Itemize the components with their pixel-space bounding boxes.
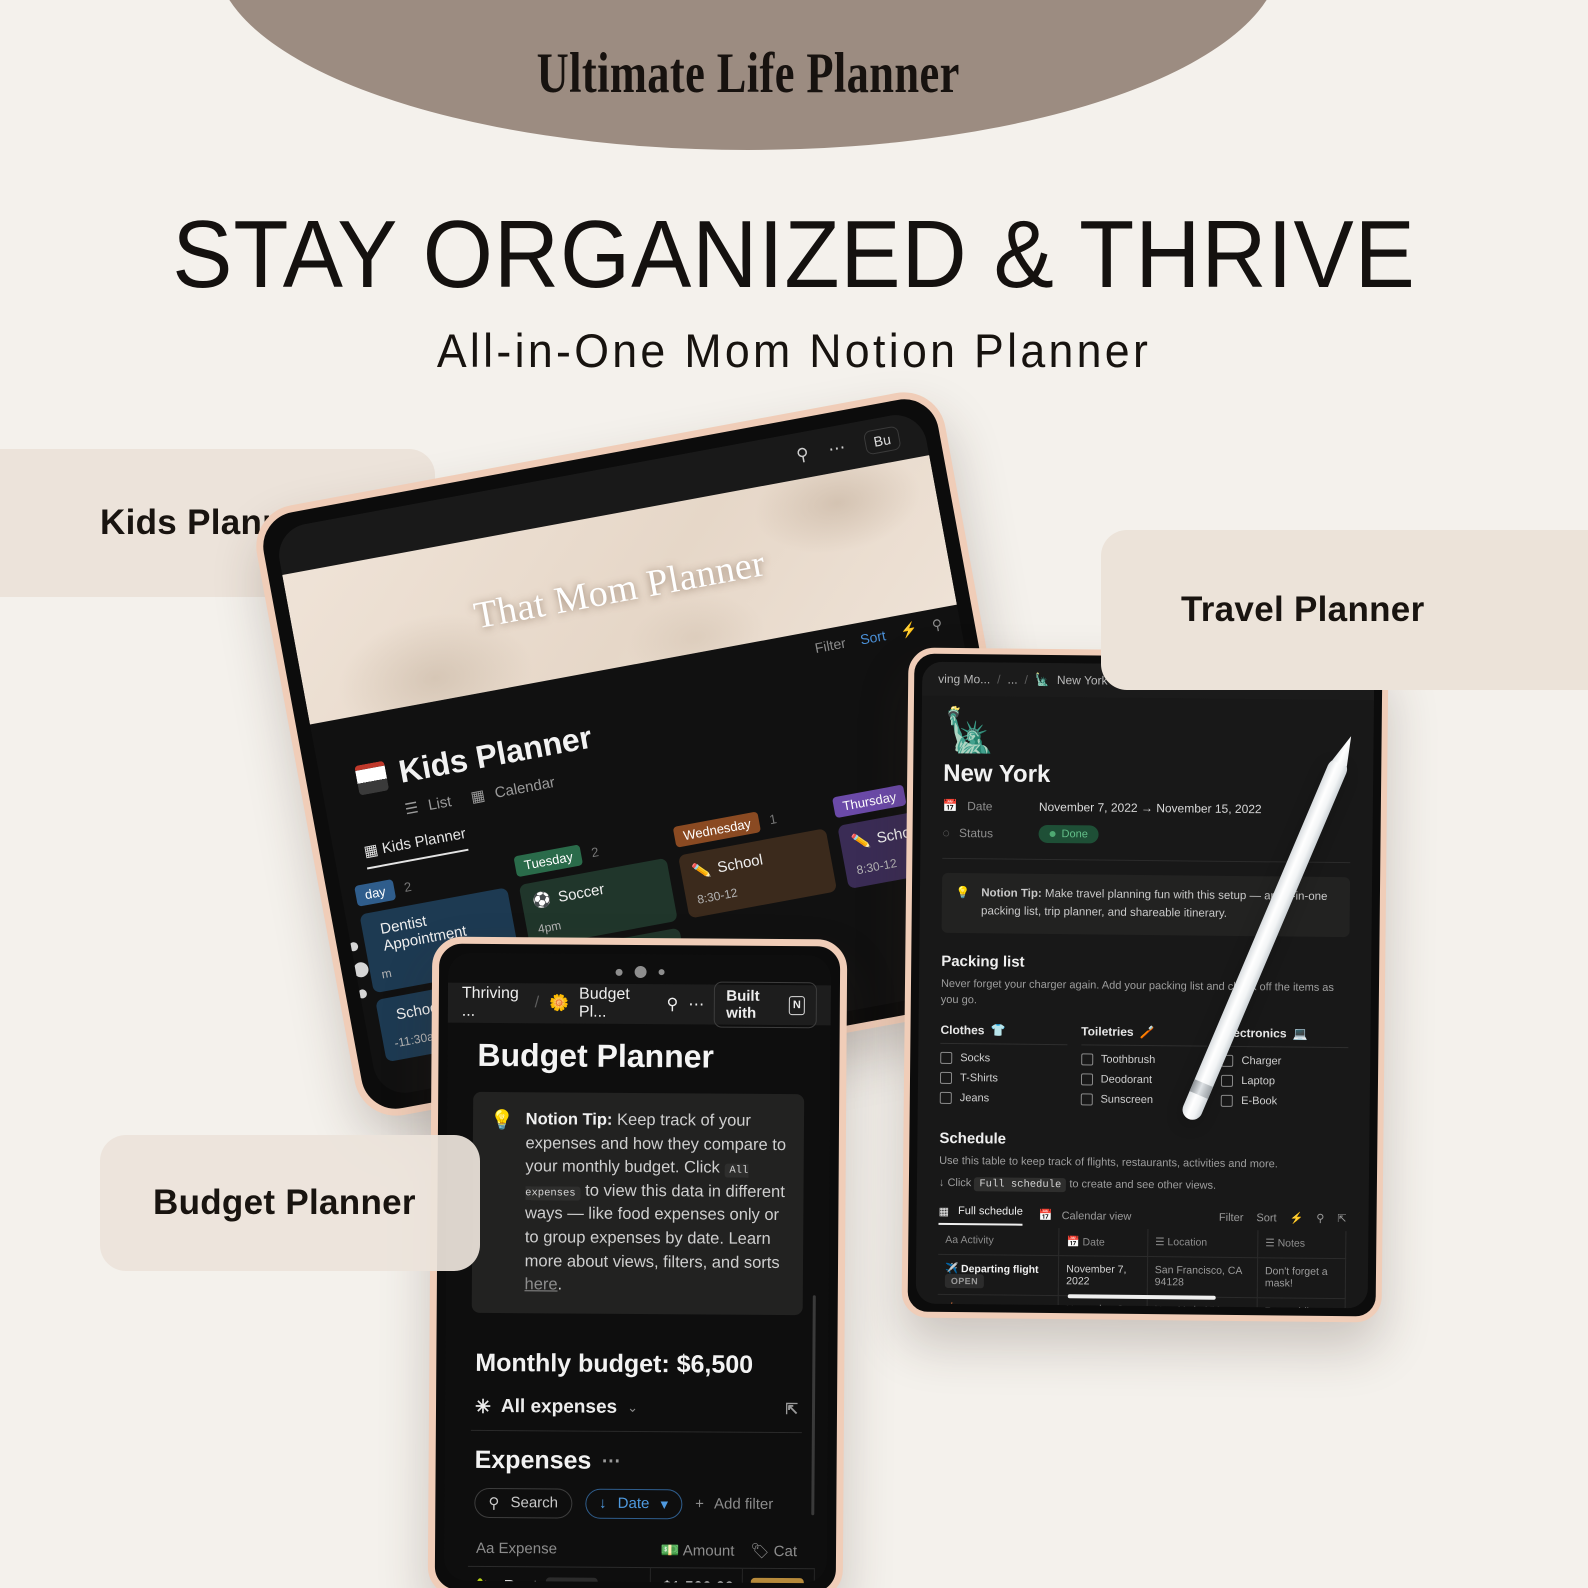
kids-cover-title: That Mom Planner	[470, 541, 768, 638]
cell-category[interactable]: Home	[742, 1568, 814, 1583]
view-selector-label: All expenses	[501, 1396, 617, 1419]
lightning-icon[interactable]: ⚡	[899, 620, 919, 640]
lightning-icon[interactable]: ⚡	[1290, 1212, 1304, 1225]
schedule-table-body: ✈️ Departing flight OPENNovember 7, 2022…	[937, 1254, 1346, 1308]
category-tag: Home	[751, 1578, 805, 1584]
column-type-icon: ☰	[1265, 1238, 1275, 1250]
statue-of-liberty-icon: 🗽	[1035, 673, 1050, 687]
expand-icon[interactable]: ⇱	[1337, 1212, 1346, 1225]
more-icon[interactable]: ⋯	[601, 1450, 620, 1473]
packing-item-label: E-Book	[1241, 1095, 1277, 1107]
cell-expense[interactable]: 🏡RentOPEN	[468, 1566, 651, 1583]
kids-sort-button[interactable]: Sort	[859, 627, 887, 647]
divider	[471, 1430, 802, 1433]
packing-column-heading: Electronics💻	[1222, 1025, 1349, 1047]
calendar-page-icon	[354, 760, 389, 795]
search-icon[interactable]: ⚲	[1316, 1212, 1324, 1225]
cell-notes[interactable]: Don't forget a mask!	[1257, 1258, 1345, 1299]
schedule-hint-code: Full schedule	[974, 1177, 1066, 1192]
packing-item-label: Charger	[1241, 1055, 1281, 1067]
lightbulb-icon: 💡	[956, 885, 971, 921]
packing-column-title: Toiletries	[1081, 1024, 1134, 1039]
cell-activity[interactable]: ✈️ Departing flight OPEN	[938, 1254, 1059, 1295]
packing-checkbox-item[interactable]: T-Shirts	[940, 1071, 1067, 1084]
travel-page-body: 🗽 New York 📅 Date November 7, 2022 → Nov…	[916, 696, 1374, 1309]
travel-page-title: New York	[943, 760, 1351, 792]
packing-columns: Clothes👕SocksT-ShirtsJeansToiletries🪥Too…	[940, 1022, 1349, 1107]
poster-canvas: Ultimate Life Planner STAY ORGANIZED & T…	[0, 0, 1588, 1588]
expenses-filter-bar: ⚲ Search ↓ Date ▾ + Add filter	[474, 1488, 815, 1520]
callout-part-3: .	[558, 1276, 563, 1294]
kids-day-count: 1	[768, 811, 778, 827]
cell-activity[interactable]: 🍂 Central park OPEN	[937, 1294, 1058, 1308]
expenses-title-text: Expenses	[475, 1446, 592, 1476]
budget-notion-tip-callout: 💡 Notion Tip: Keep track of your expense…	[472, 1092, 805, 1315]
built-with-label: Built with	[726, 988, 782, 1022]
packing-column-heading: Clothes👕	[940, 1022, 1067, 1044]
travel-tablet-screen: ving Mo... / ... / 🗽 New York 🗽 New York…	[916, 662, 1375, 1309]
label-travel-planner: Travel Planner	[1101, 530, 1588, 690]
budget-callout-text: Notion Tip: Keep track of your expenses …	[524, 1108, 787, 1299]
badge-title: Ultimate Life Planner	[536, 41, 959, 106]
kids-tab-bar: ▦ Kids Planner	[362, 824, 469, 869]
asterisk-icon: ✳	[475, 1396, 491, 1419]
column-header-label: Location	[1167, 1237, 1207, 1249]
expenses-database-title: Expenses ⋯	[475, 1446, 816, 1477]
label-budget-planner: Budget Planner	[100, 1135, 480, 1271]
packing-list-description: Never forget your charger again. Add you…	[941, 975, 1349, 1012]
activity-emoji-icon: 🍂	[945, 1303, 958, 1309]
chevron-down-icon[interactable]: ⌄	[627, 1400, 638, 1416]
add-filter-button[interactable]: + Add filter	[695, 1496, 773, 1514]
schedule-filter-button[interactable]: Filter	[1219, 1212, 1244, 1224]
dot-small	[615, 968, 622, 975]
kids-view-calendar-label: Calendar	[493, 773, 556, 801]
breadcrumb-workspace[interactable]: ving Mo...	[938, 672, 990, 687]
callout-link[interactable]: here	[524, 1275, 557, 1293]
packing-item-label: Sunscreen	[1100, 1093, 1153, 1106]
event-emoji-icon: ✏️	[691, 860, 713, 881]
kids-page-title-text: Kids Planner	[396, 719, 595, 791]
checkbox-icon[interactable]	[1081, 1053, 1093, 1065]
tab-kids-planner[interactable]: ▦ Kids Planner	[362, 824, 469, 869]
kids-day-chip[interactable]: day	[354, 879, 396, 907]
more-icon[interactable]: ⋯	[688, 994, 704, 1014]
property-date: 📅 Date November 7, 2022 → November 15, 2…	[943, 799, 1351, 817]
packing-item-label: Jeans	[960, 1092, 989, 1104]
checkbox-icon[interactable]	[1080, 1093, 1092, 1105]
status-badge[interactable]: Done	[1038, 825, 1098, 844]
packing-column-heading: Toiletries🪥	[1081, 1024, 1208, 1046]
search-icon[interactable]: ⚲	[931, 616, 944, 635]
vertical-scrollbar[interactable]	[811, 1295, 816, 1515]
packing-item-label: T-Shirts	[960, 1072, 998, 1084]
schedule-col-header[interactable]: ☰ Notes	[1258, 1230, 1346, 1258]
packing-category-icon: 🪥	[1140, 1025, 1155, 1039]
notion-icon: N	[789, 996, 805, 1015]
breadcrumb-ellipsis[interactable]: ...	[1007, 673, 1017, 687]
breadcrumb-workspace[interactable]: Thriving ...	[462, 985, 525, 1021]
checkbox-icon[interactable]	[940, 1071, 952, 1083]
cell-location[interactable]: San Francisco, CA 94128	[1147, 1256, 1258, 1297]
cell-date[interactable]: November 7, 2022	[1059, 1255, 1148, 1296]
view-calendar[interactable]: 📅 Calendar view	[1039, 1209, 1132, 1223]
label-travel-planner-text: Travel Planner	[1181, 590, 1425, 630]
schedule-view-bar: ▦ Full schedule 📅 Calendar view Filter S…	[938, 1205, 1346, 1229]
packing-checkbox-item[interactable]: E-Book	[1221, 1094, 1348, 1107]
travel-planner-tablet: ving Mo... / ... / 🗽 New York 🗽 New York…	[902, 648, 1389, 1323]
packing-checkbox-item[interactable]: Deodorant	[1081, 1073, 1208, 1086]
budget-tablet-screen: Thriving ... / 🌼 Budget Pl... ⚲ ⋯ Built …	[444, 953, 831, 1584]
more-icon[interactable]: ⋯	[827, 437, 847, 460]
dot-small	[357, 989, 367, 999]
packing-list-heading: Packing list	[941, 952, 1349, 973]
flower-icon: 🌼	[549, 993, 569, 1013]
packing-column: Clothes👕SocksT-ShirtsJeans	[940, 1022, 1068, 1104]
packing-item-label: Deodorant	[1101, 1073, 1152, 1086]
kids-view-list-item[interactable]: ☰ List	[403, 792, 452, 818]
expense-cell-inner: 🏡RentOPEN	[476, 1577, 642, 1584]
view-full-schedule[interactable]: ▦ Full schedule	[938, 1205, 1022, 1226]
checkbox-icon[interactable]	[940, 1091, 952, 1103]
property-status-value[interactable]: Done	[1038, 825, 1098, 844]
breadcrumb-page[interactable]: Budget Pl...	[579, 986, 649, 1022]
column-type-icon: 📅	[1067, 1236, 1080, 1248]
checkbox-icon[interactable]	[1221, 1074, 1233, 1086]
sort-date-button[interactable]: ↓ Date ▾	[585, 1488, 682, 1519]
badge-ellipse: Ultimate Life Planner	[215, 0, 1281, 150]
schedule-toolbar: Filter Sort ⚡ ⚲ ⇱	[1219, 1211, 1347, 1225]
packing-item-label: Toothbrush	[1101, 1053, 1156, 1066]
kids-day-chip[interactable]: Tuesday	[513, 844, 583, 877]
view-selector-all-expenses[interactable]: ✳ All expenses ⌄ ⇱	[475, 1396, 798, 1421]
packing-checkbox-item[interactable]: Socks	[940, 1051, 1067, 1064]
open-row-button[interactable]: OPEN	[545, 1577, 597, 1583]
page-headline: STAY ORGANIZED & THRIVE	[48, 200, 1541, 310]
kids-filter-button[interactable]: Filter	[813, 634, 847, 655]
budget-tablet-bezel: Thriving ... / 🌼 Budget Pl... ⚲ ⋯ Built …	[428, 937, 848, 1588]
column-type-icon: ☰	[1155, 1236, 1165, 1248]
checkbox-icon[interactable]	[940, 1051, 952, 1063]
packing-item-label: Socks	[960, 1052, 990, 1064]
schedule-sort-button[interactable]: Sort	[1256, 1212, 1276, 1224]
column-type-icon: Aa	[945, 1234, 958, 1246]
property-date-value[interactable]: November 7, 2022 → November 15, 2022	[1039, 800, 1262, 816]
schedule-col-header[interactable]: Aa Activity	[938, 1227, 1059, 1256]
expenses-col-header[interactable]: 🏷 Cat	[742, 1533, 814, 1568]
table-row[interactable]: 🏡RentOPEN$1,500.00Home	[468, 1566, 815, 1583]
budget-breadcrumb-bar: Thriving ... / 🌼 Budget Pl... ⚲ ⋯ Built …	[448, 983, 831, 1026]
event-name: Soccer	[557, 880, 606, 905]
schedule-description: Use this table to keep track of flights,…	[939, 1152, 1347, 1173]
column-type-icon: Aa	[476, 1540, 494, 1557]
search-icon[interactable]: ⚲	[666, 994, 678, 1014]
packing-item-label: Laptop	[1241, 1075, 1275, 1087]
event-emoji-icon: ✏️	[850, 831, 872, 852]
event-emoji-icon: ⚽	[531, 890, 553, 911]
breadcrumb-separator: /	[535, 994, 540, 1012]
lightbulb-icon: 💡	[489, 1108, 514, 1297]
expense-name: Rent	[504, 1578, 538, 1584]
dot-small	[658, 969, 664, 975]
column-header-label: Date	[1083, 1236, 1105, 1248]
activity-name: Central park	[961, 1303, 1022, 1308]
property-status: ◌ Status Done	[942, 824, 1350, 846]
checkbox-icon[interactable]	[1221, 1094, 1233, 1106]
packing-column: Electronics💻ChargerLaptopE-Book	[1221, 1025, 1349, 1107]
dot-small	[348, 941, 358, 951]
cell-amount[interactable]: $1,500.00	[650, 1567, 742, 1583]
label-budget-planner-text: Budget Planner	[153, 1183, 416, 1223]
packing-checkbox-item[interactable]: Toothbrush	[1081, 1053, 1208, 1066]
page-subheadline: All-in-One Mom Notion Planner	[40, 323, 1549, 378]
page-emoji-icon: 🗽	[943, 710, 1351, 756]
packing-category-icon: 👕	[990, 1023, 1005, 1037]
search-icon[interactable]: ⚲	[795, 444, 811, 466]
expenses-table-body: 🏡RentOPEN$1,500.00Home🚗Car LeaseOPEN$702…	[467, 1566, 815, 1583]
expenses-col-header[interactable]: 💵 Amount	[650, 1533, 742, 1568]
column-header-label: Activity	[960, 1234, 993, 1246]
status-dot	[1050, 831, 1056, 837]
budget-page-title: Budget Planner	[477, 1037, 818, 1076]
breadcrumb-page[interactable]: New York	[1057, 673, 1108, 688]
property-status-label: ◌ Status	[943, 826, 1039, 841]
expand-icon[interactable]: ⇱	[785, 1400, 798, 1418]
property-date-label: 📅 Date	[943, 799, 1039, 814]
schedule-heading: Schedule	[939, 1129, 1347, 1150]
dot-large	[634, 966, 646, 978]
event-name: School	[716, 851, 764, 876]
tab-kids-planner-label: Kids Planner	[381, 825, 468, 857]
built-with-badge[interactable]: Bu	[863, 425, 902, 455]
expense-emoji-icon: 🏡	[476, 1577, 496, 1584]
dot-large	[352, 961, 369, 978]
budget-page-body: Budget Planner 💡 Notion Tip: Keep track …	[444, 1023, 831, 1584]
packing-checkbox-item[interactable]: Jeans	[940, 1091, 1067, 1104]
kids-day-count: 2	[590, 844, 600, 860]
column-type-icon: 🏷	[750, 1543, 769, 1560]
breadcrumb-separator: /	[997, 672, 1000, 686]
schedule-table-header-row: Aa Activity📅 Date☰ Location☰ Notes	[938, 1227, 1346, 1259]
budget-planner-tablet: Thriving ... / 🌼 Budget Pl... ⚲ ⋯ Built …	[428, 937, 848, 1588]
expenses-table: Aa Expense💵 Amount🏷 Cat 🏡RentOPEN$1,500.…	[467, 1532, 815, 1584]
expenses-col-header[interactable]: Aa Expense	[468, 1532, 651, 1568]
packing-checkbox-item[interactable]: Charger	[1221, 1054, 1348, 1067]
schedule-hint: ↓ Click Full schedule to create and see …	[939, 1175, 1347, 1197]
built-with-notion-button[interactable]: Built with N	[714, 982, 817, 1029]
kids-view-list-label: List	[427, 793, 453, 814]
breadcrumb-separator: /	[1025, 673, 1028, 687]
schedule-col-header[interactable]: ☰ Location	[1147, 1229, 1257, 1258]
column-header-label: Amount	[683, 1542, 735, 1559]
column-header-label: Notes	[1278, 1238, 1306, 1250]
packing-checkbox-item[interactable]: Laptop	[1221, 1074, 1348, 1087]
search-button[interactable]: ⚲ Search	[474, 1488, 572, 1519]
callout-bold: Notion Tip:	[981, 887, 1042, 900]
packing-category-icon: 💻	[1292, 1026, 1307, 1040]
open-row-button[interactable]: OPEN	[945, 1274, 984, 1288]
schedule-col-header[interactable]: 📅 Date	[1059, 1228, 1148, 1256]
cell-notes[interactable]: Rent a bike.	[1257, 1298, 1345, 1309]
expenses-table-header-row: Aa Expense💵 Amount🏷 Cat	[468, 1532, 815, 1569]
kids-view-calendar-item[interactable]: ▦ Calendar	[469, 773, 556, 806]
kids-day-chip[interactable]: Thursday	[832, 784, 907, 818]
travel-tablet-bezel: ving Mo... / ... / 🗽 New York 🗽 New York…	[902, 648, 1389, 1323]
column-header-label: Expense	[499, 1540, 557, 1557]
packing-column-title: Clothes	[940, 1022, 984, 1036]
schedule-hint-suffix: to create and see other views.	[1069, 1178, 1216, 1192]
column-header-label: Cat	[774, 1543, 797, 1560]
checkbox-icon[interactable]	[1081, 1073, 1093, 1085]
budget-window-dots	[615, 966, 664, 978]
callout-bold: Notion Tip:	[526, 1110, 613, 1129]
schedule-hint-prefix: ↓ Click	[939, 1177, 972, 1189]
monthly-budget-text: Monthly budget: $6,500	[475, 1349, 816, 1380]
kids-day-count: 2	[403, 879, 413, 895]
column-type-icon: 💵	[661, 1542, 680, 1559]
table-row[interactable]: ✈️ Departing flight OPENNovember 7, 2022…	[938, 1254, 1346, 1298]
